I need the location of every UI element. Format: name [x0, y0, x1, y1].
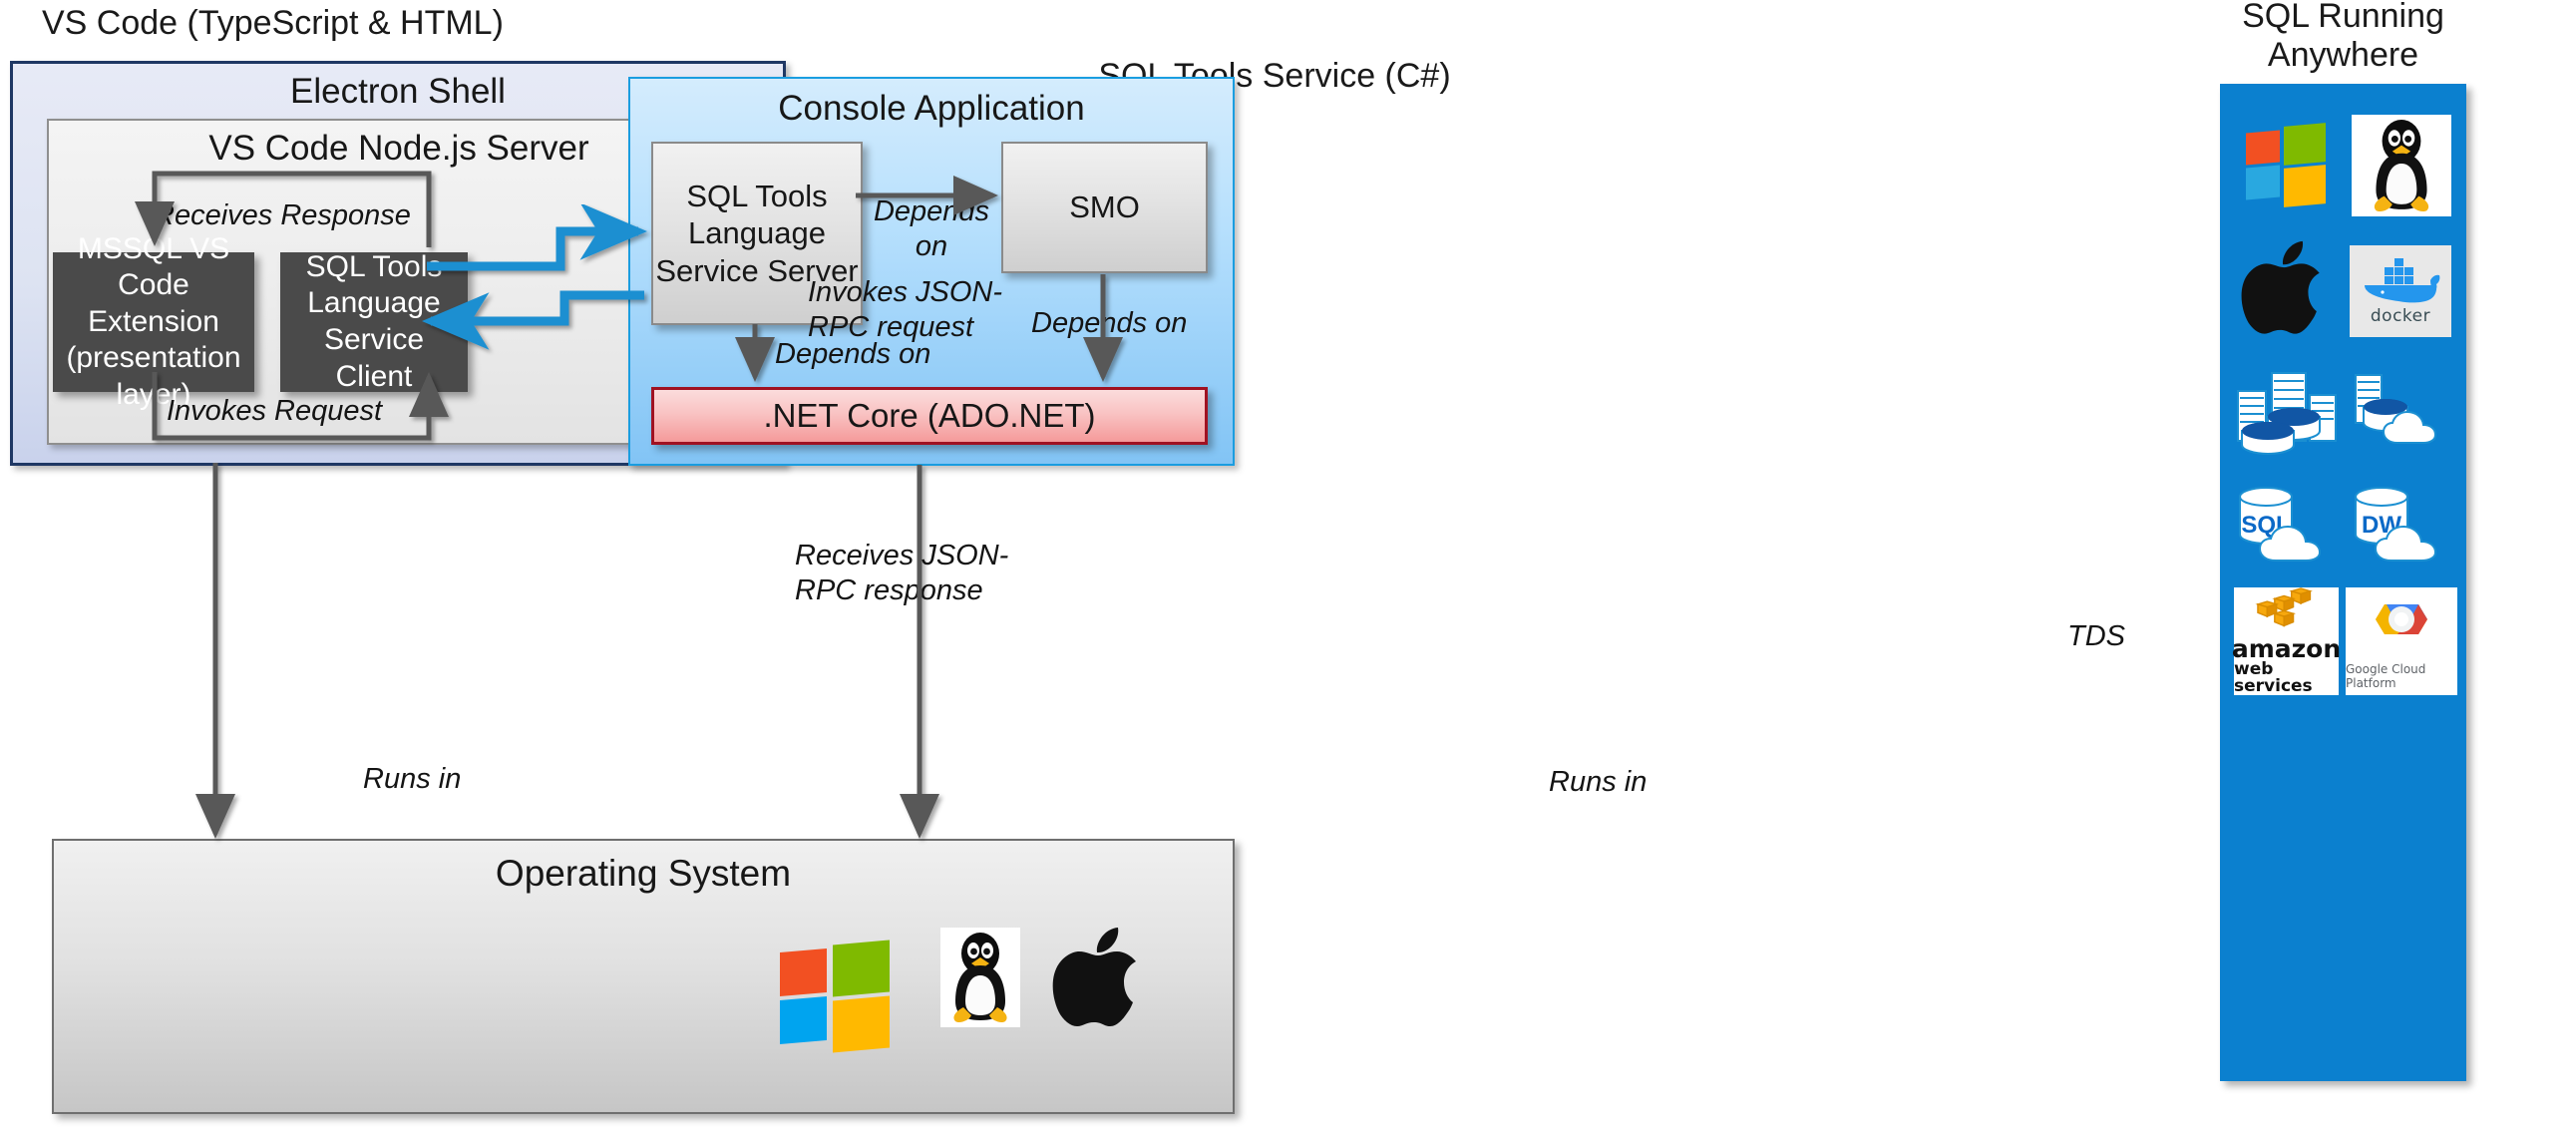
label-invokes-json-rpc-request: Invokes JSON- RPC request	[808, 275, 1002, 345]
label-receives-response: Receives Response	[154, 198, 411, 233]
caption-vscode: VS Code (TypeScript & HTML)	[42, 4, 504, 43]
caption-sql-running-anywhere: SQL Running Anywhere	[2220, 0, 2466, 72]
box-mssql-vscode-extension[interactable]: MSSQL VS Code Extension (presentation la…	[53, 252, 254, 392]
console-application-title: Console Application	[630, 89, 1233, 129]
label-receives-json-rpc-response: Receives JSON- RPC response	[795, 539, 1008, 608]
cloud-database-icon	[2352, 371, 2457, 457]
linux-tux-icon	[2352, 115, 2451, 216]
aws-wordmark-line2: web services	[2234, 661, 2339, 695]
apple-logo-icon	[1051, 926, 1147, 1035]
box-sql-tools-language-service-client-label: SQL Tools Language Service Client	[286, 249, 462, 395]
label-depends-on-dotnet-from-smo: Depends on	[1031, 306, 1187, 341]
windows-logo-icon	[780, 941, 890, 1048]
box-smo[interactable]: SMO	[1001, 142, 1208, 273]
label-runs-in-left: Runs in	[363, 762, 461, 797]
docker-wordmark: docker	[2371, 306, 2430, 326]
apple-logo-icon	[2240, 238, 2330, 343]
docker-logo-icon: docker	[2350, 245, 2451, 337]
box-sql-tools-language-service-client[interactable]: SQL Tools Language Service Client	[280, 252, 468, 392]
on-premises-datacenter-icon	[2232, 365, 2344, 457]
windows-logo-icon	[2246, 124, 2326, 201]
box-smo-label: SMO	[1069, 189, 1140, 225]
amazon-web-services-logo-icon: amazon web services	[2234, 587, 2339, 695]
label-tds: TDS	[2067, 619, 2125, 654]
label-depends-on-smo: Depends on	[868, 194, 995, 264]
label-runs-in-center: Runs in	[1549, 765, 1647, 800]
box-mssql-vscode-extension-label: MSSQL VS Code Extension (presentation la…	[59, 231, 248, 414]
google-cloud-platform-logo-icon: Google Cloud Platform	[2346, 587, 2457, 695]
aws-wordmark-line1: amazon	[2232, 636, 2341, 661]
operating-system-title: Operating System	[54, 853, 1233, 895]
box-dotnet-core-adonet-label: .NET Core (ADO.NET)	[763, 397, 1095, 435]
linux-tux-icon	[940, 928, 1020, 1027]
azure-sql-data-warehouse-icon: DW	[2348, 483, 2459, 572]
console-application-panel: Console Application SQL Tools Language S…	[628, 77, 1235, 466]
gcp-wordmark: Google Cloud Platform	[2346, 662, 2457, 690]
sql-running-anywhere-panel: docker	[2220, 84, 2466, 1081]
box-dotnet-core-adonet[interactable]: .NET Core (ADO.NET)	[651, 387, 1208, 445]
operating-system-panel: Operating System	[52, 839, 1235, 1114]
azure-sql-database-icon: SQL	[2232, 483, 2344, 572]
box-sql-tools-language-service-server-label: SQL Tools Language Service Server	[655, 178, 858, 289]
label-invokes-request: Invokes Request	[167, 394, 382, 429]
